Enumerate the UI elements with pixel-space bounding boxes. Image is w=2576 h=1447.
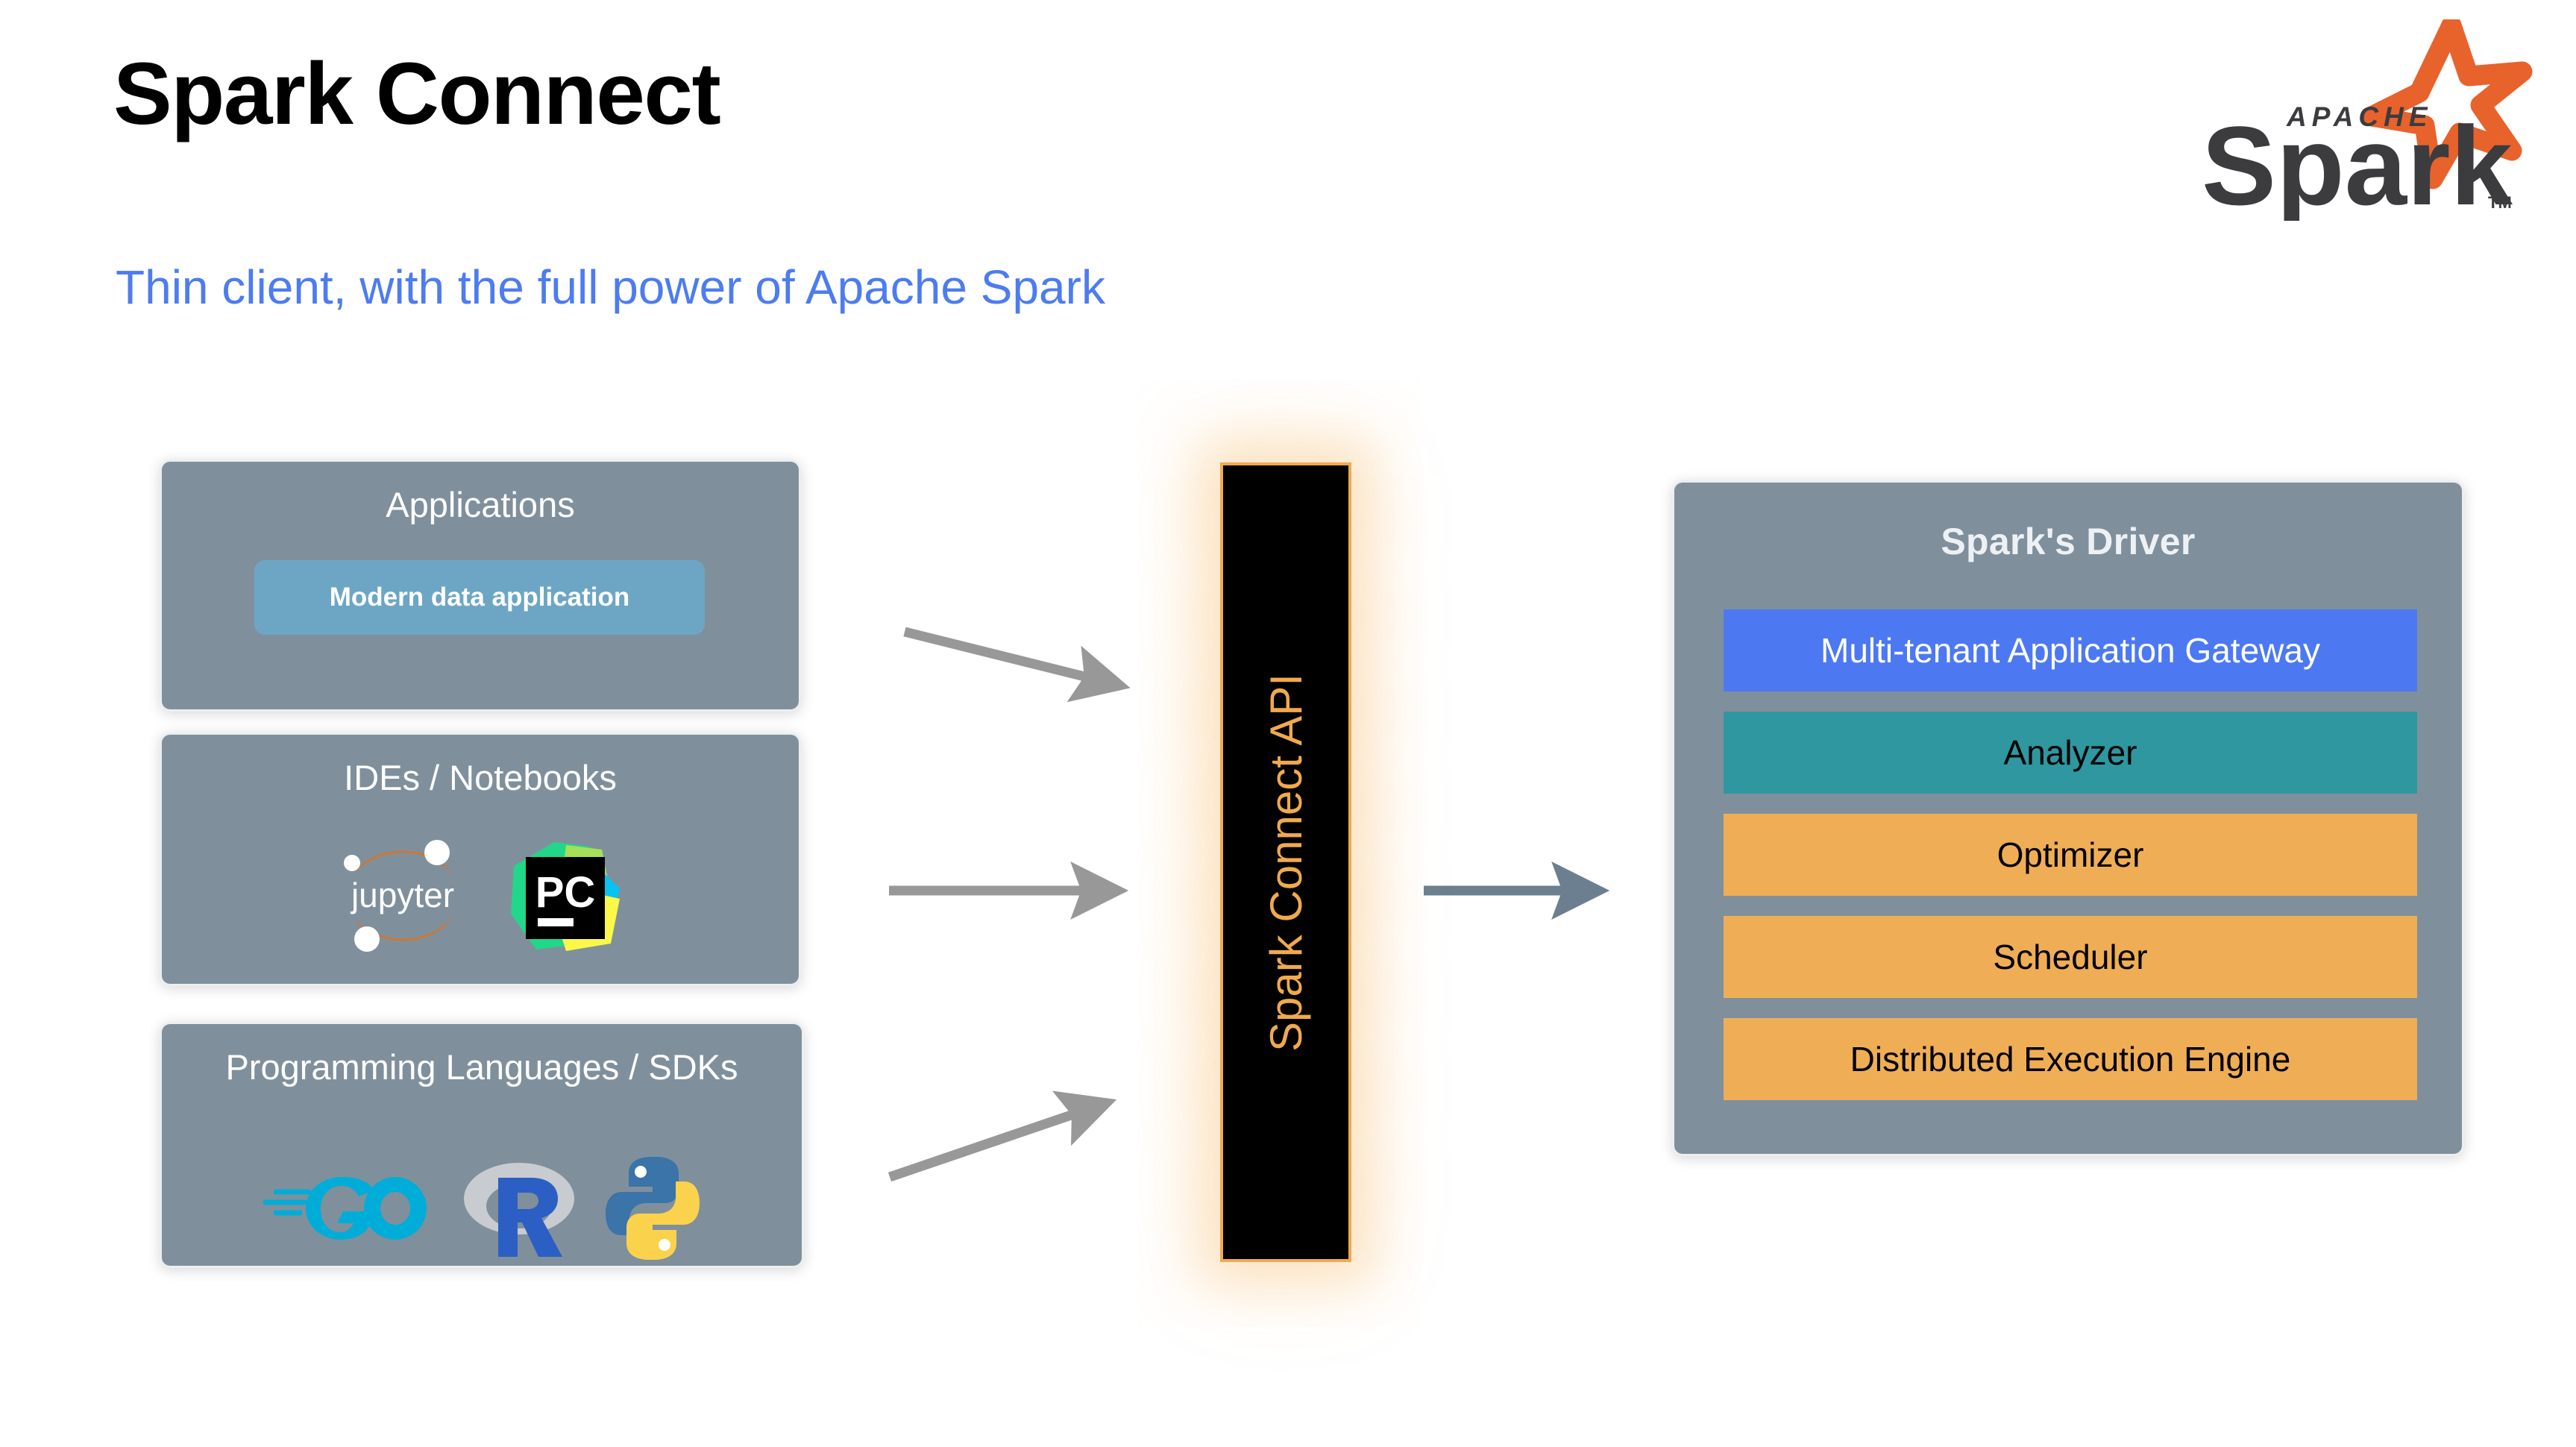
driver-row-label: Scheduler [1993, 937, 2147, 977]
card-programming-languages[interactable]: Programming Languages / SDKs [160, 1022, 804, 1268]
jupyter-wordmark: jupyter [350, 876, 454, 914]
spark-driver-panel[interactable]: Spark's Driver Multi-tenant Application … [1672, 480, 2464, 1156]
page-subtitle: Thin client, with the full power of Apac… [116, 261, 1105, 313]
arrow-applications-to-api [905, 632, 1117, 685]
pycharm-wordmark: PC [535, 868, 596, 917]
driver-row-label: Optimizer [1997, 835, 2144, 875]
slide-root: Spark Connect Thin client, with the full… [0, 0, 2576, 1447]
card-applications[interactable]: Applications Modern data application [160, 459, 801, 712]
driver-row-label: Multi-tenant Application Gateway [1821, 630, 2320, 671]
go-logo [263, 1165, 434, 1252]
apache-spark-logo: APACHE Spark TM [2167, 19, 2533, 221]
driver-row-gateway[interactable]: Multi-tenant Application Gateway [1724, 609, 2417, 691]
r-logo [459, 1152, 579, 1264]
driver-row-label: Distributed Execution Engine [1850, 1039, 2291, 1079]
card-ides-title: IDEs / Notebooks [162, 735, 799, 798]
card-applications-title: Applications [162, 462, 799, 525]
jupyter-logo: jupyter [332, 830, 474, 958]
languages-logo-row [162, 1152, 802, 1264]
brand-spark-text: Spark [2202, 103, 2513, 221]
driver-row-label: Analyzer [2004, 732, 2137, 773]
spark-driver-title: Spark's Driver [1674, 483, 2462, 563]
spark-connect-api-label: Spark Connect API [1260, 674, 1312, 1052]
brand-trademark-text: TM [2488, 193, 2512, 212]
driver-row-execution-engine[interactable]: Distributed Execution Engine [1724, 1018, 2417, 1100]
arrow-languages-to-api [890, 1104, 1104, 1177]
driver-row-analyzer[interactable]: Analyzer [1724, 712, 2417, 794]
spark-connect-api-bar[interactable]: Spark Connect API [1220, 462, 1351, 1262]
driver-row-scheduler[interactable]: Scheduler [1724, 916, 2417, 998]
page-title: Spark Connect [113, 46, 720, 143]
pycharm-logo: PC [500, 830, 629, 958]
ides-logo-row: jupyter PC [162, 830, 799, 958]
chip-label: Modern data application [330, 583, 630, 612]
chip-modern-data-application[interactable]: Modern data application [254, 560, 705, 635]
driver-row-optimizer[interactable]: Optimizer [1724, 814, 2417, 896]
card-languages-title: Programming Languages / SDKs [162, 1024, 802, 1087]
card-ides-notebooks[interactable]: IDEs / Notebooks jupyter PC [160, 732, 801, 986]
python-logo [604, 1152, 701, 1264]
driver-rows: Multi-tenant Application Gateway Analyze… [1724, 609, 2417, 1120]
